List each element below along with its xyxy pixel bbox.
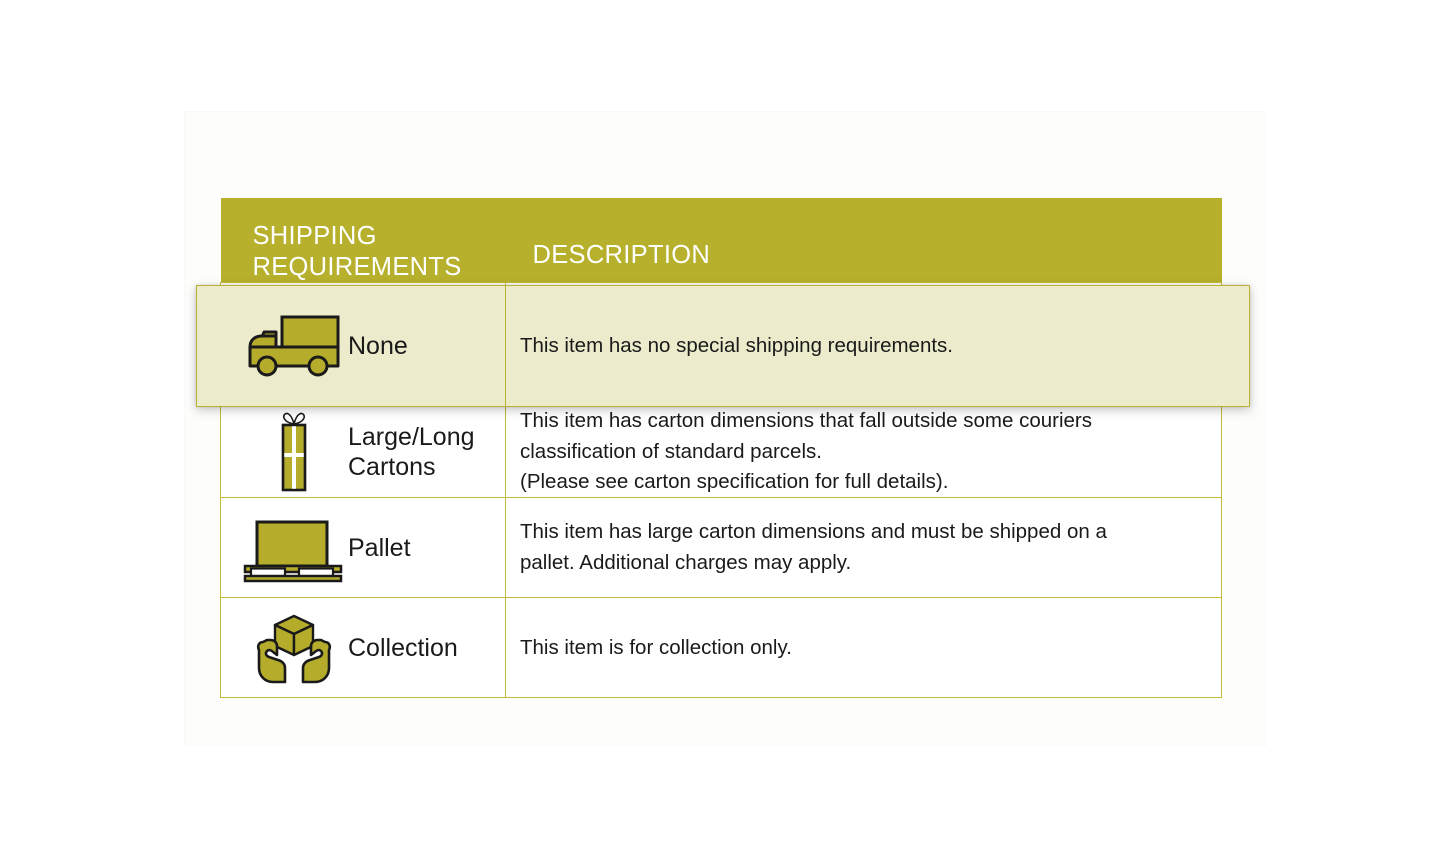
requirement-label-large-long-cartons: Large/Long Cartons	[348, 422, 505, 482]
requirement-label-collection: Collection	[348, 633, 458, 663]
pallet-icon	[241, 513, 346, 583]
hands-box-icon	[241, 612, 346, 684]
requirement-cell-collection: Collection	[221, 598, 506, 698]
description-line-1: This item has carton dimensions that fal…	[520, 406, 1207, 436]
gift-carton-icon	[241, 411, 346, 493]
table-header-row: SHIPPING REQUIREMENTS DESCRIPTION	[221, 198, 1222, 283]
description-cell-pallet: This item has large carton dimensions an…	[506, 498, 1222, 598]
description-text-pallet: This item has large carton dimensions an…	[506, 517, 1221, 578]
highlighted-requirement-cell-none: None	[197, 286, 506, 406]
description-text-large-long-cartons: This item has carton dimensions that fal…	[506, 406, 1221, 497]
column-header-shipping-requirements-label: SHIPPING REQUIREMENTS	[221, 198, 468, 282]
table-row-large-long-cartons[interactable]: Large/Long Cartons This item has carton …	[221, 406, 1222, 498]
column-header-description: DESCRIPTION	[506, 198, 1222, 283]
description-cell-large-long-cartons: This item has carton dimensions that fal…	[506, 406, 1222, 498]
requirement-label-pallet: Pallet	[348, 533, 411, 563]
requirement-cell-pallet: Pallet	[221, 498, 506, 598]
shipping-requirements-table: SHIPPING REQUIREMENTS DESCRIPTION None T…	[220, 198, 1222, 698]
column-header-description-label: DESCRIPTION	[506, 198, 1222, 271]
highlighted-description-cell-none: This item has no special shipping requir…	[506, 286, 1249, 406]
highlighted-row-none[interactable]: None This item has no special shipping r…	[196, 285, 1250, 407]
description-cell-collection: This item is for collection only.	[506, 598, 1222, 698]
highlighted-description-text-none: This item has no special shipping requir…	[520, 331, 967, 361]
table-head: SHIPPING REQUIREMENTS DESCRIPTION	[221, 198, 1222, 283]
truck-icon	[241, 314, 346, 378]
table-row-collection[interactable]: Collection This item is for collection o…	[221, 598, 1222, 698]
column-header-shipping-requirements: SHIPPING REQUIREMENTS	[221, 198, 506, 283]
description-line-2: classification of standard parcels.	[520, 437, 1207, 467]
table-row-pallet[interactable]: Pallet This item has large carton dimens…	[221, 498, 1222, 598]
description-line-2: pallet. Additional charges may apply.	[520, 548, 1207, 578]
description-line-1: This item has large carton dimensions an…	[520, 517, 1207, 547]
requirement-cell-large-long-cartons: Large/Long Cartons	[221, 406, 506, 498]
description-line-3: (Please see carton specification for ful…	[520, 467, 1207, 497]
description-text-collection: This item is for collection only.	[506, 633, 1221, 663]
highlighted-requirement-label-none: None	[348, 331, 408, 361]
